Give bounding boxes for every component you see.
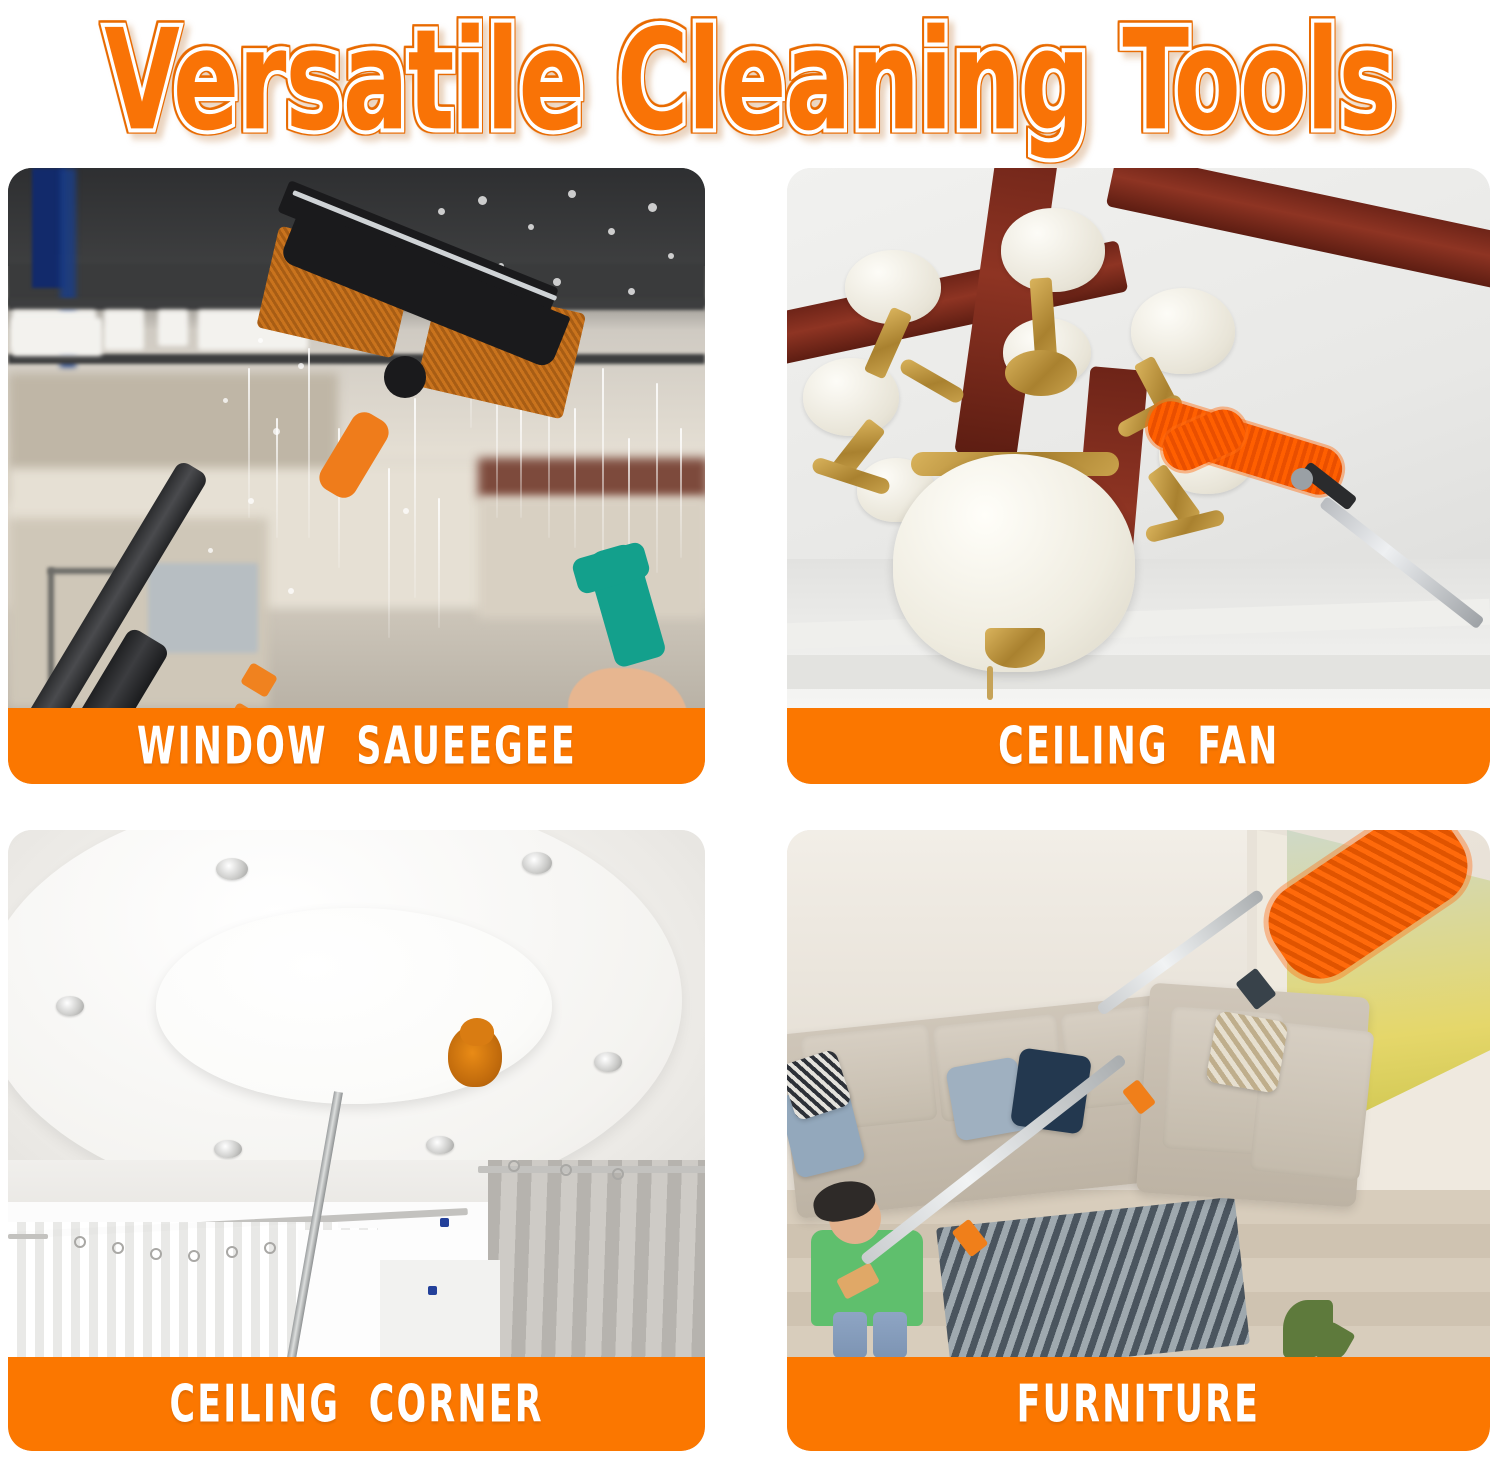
photo-furniture [787, 830, 1490, 1358]
squeegee-tool-illustration [8, 168, 705, 709]
panel-window-squeegee[interactable]: WINDOW SAUEEGEE [8, 168, 705, 784]
panel-ceiling-corner[interactable]: CEILING CORNER [8, 830, 705, 1451]
caption-band-ceiling-fan: CEILING FAN [787, 708, 1490, 784]
page-title: Versatile Cleaning Tools [0, 0, 1500, 160]
panel-furniture[interactable]: FURNITURE [787, 830, 1490, 1451]
photo-ceiling-fan [787, 168, 1490, 709]
caption-band-ceiling-corner: CEILING CORNER [8, 1357, 705, 1451]
caption-label-ceiling-corner: CEILING CORNER [169, 1374, 543, 1434]
photo-window-squeegee [8, 168, 705, 709]
caption-band-window-squeegee: WINDOW SAUEEGEE [8, 708, 705, 784]
caption-label-ceiling-fan: CEILING FAN [998, 716, 1279, 776]
infographic-page: Versatile Cleaning Tools [0, 0, 1500, 1459]
caption-band-furniture: FURNITURE [787, 1357, 1490, 1451]
main-title-text: Versatile Cleaning Tools [104, 10, 1396, 149]
caption-label-furniture: FURNITURE [1017, 1374, 1260, 1434]
panel-ceiling-fan[interactable]: CEILING FAN [787, 168, 1490, 784]
caption-label-window-squeegee: WINDOW SAUEEGEE [137, 716, 577, 776]
photo-ceiling-corner [8, 830, 705, 1358]
